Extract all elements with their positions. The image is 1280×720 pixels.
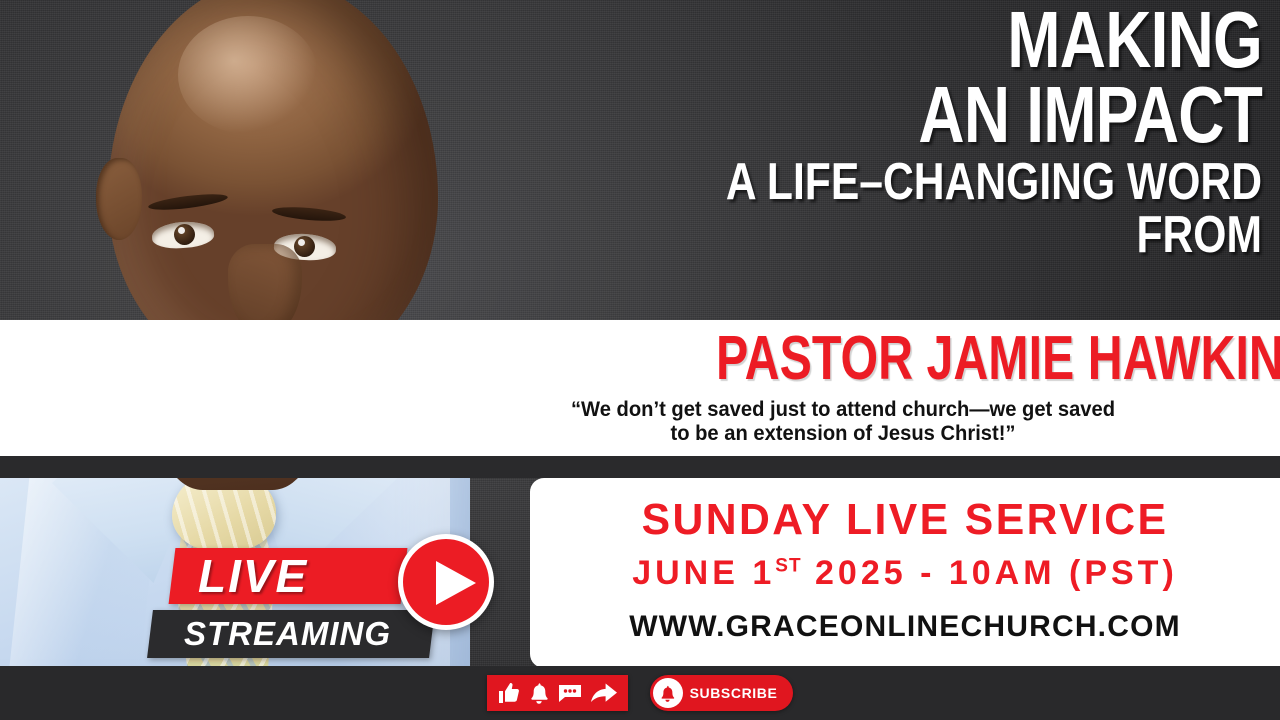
streaming-label: STREAMING bbox=[184, 611, 391, 657]
engagement-icons-group bbox=[487, 675, 628, 711]
share-icon[interactable] bbox=[590, 682, 618, 704]
thumbs-up-icon[interactable] bbox=[497, 682, 521, 704]
speaker-name-band bbox=[0, 320, 1280, 456]
service-info-band bbox=[530, 478, 1280, 668]
band-divider-strip bbox=[0, 456, 1280, 478]
comment-icon[interactable] bbox=[557, 683, 583, 703]
headline-line-4: FROM bbox=[606, 209, 1262, 261]
pupil-right bbox=[294, 236, 315, 257]
subscribe-label: SUBSCRIBE bbox=[690, 685, 778, 701]
headline-line-3: A LIFE–CHANGING WORD bbox=[606, 152, 1262, 209]
live-label-bar: LIVE bbox=[169, 548, 408, 604]
headline-line-2: AN IMPACT bbox=[622, 77, 1262, 152]
livestream-promo-poster: MAKING AN IMPACT A LIFE–CHANGING WORD FR… bbox=[0, 0, 1280, 720]
bottom-action-bar: SUBSCRIBE bbox=[0, 666, 1280, 720]
live-label: LIVE bbox=[198, 550, 308, 602]
streaming-label-bar: STREAMING bbox=[147, 610, 435, 658]
pupil-left bbox=[174, 224, 195, 245]
play-button[interactable] bbox=[398, 534, 494, 630]
ear bbox=[96, 158, 142, 240]
headline-block: MAKING AN IMPACT A LIFE–CHANGING WORD FR… bbox=[462, 0, 1262, 261]
subscribe-bell-badge bbox=[653, 678, 683, 708]
subscribe-button[interactable]: SUBSCRIBE bbox=[650, 675, 794, 711]
bell-icon[interactable] bbox=[528, 682, 550, 704]
play-triangle-icon bbox=[436, 561, 476, 605]
bell-icon bbox=[659, 685, 676, 702]
headline-line-1: MAKING bbox=[622, 0, 1262, 77]
head-highlight bbox=[178, 16, 318, 134]
